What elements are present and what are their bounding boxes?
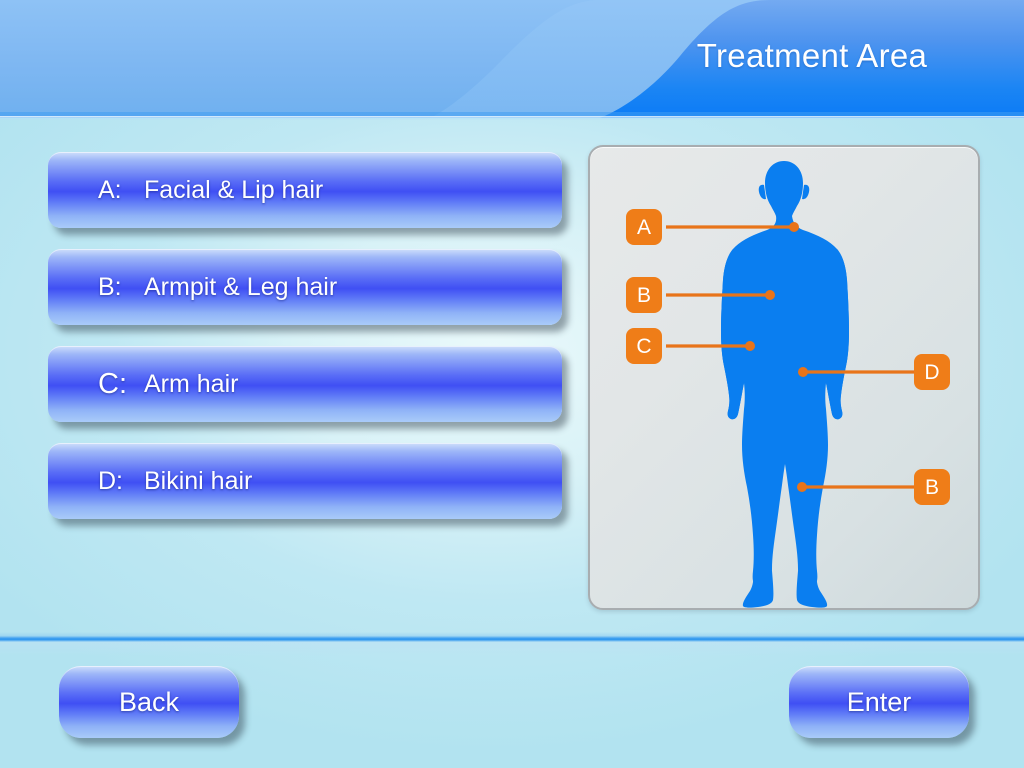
marker-badge-b-leg-label: B bbox=[925, 476, 939, 499]
option-button-b[interactable]: B: Armpit & Leg hair bbox=[48, 249, 562, 325]
marker-badge-b-armpit-label: B bbox=[637, 284, 651, 307]
back-button[interactable]: Back bbox=[59, 666, 239, 738]
marker-badge-d-label: D bbox=[924, 361, 939, 384]
option-label-c: Arm hair bbox=[144, 370, 238, 399]
app-screen: Treatment Area A: Facial & Lip hair B: A… bbox=[0, 0, 1024, 768]
marker-badge-d[interactable]: D bbox=[914, 354, 950, 390]
treatment-options-list: A: Facial & Lip hair B: Armpit & Leg hai… bbox=[48, 152, 562, 540]
header-underline bbox=[0, 116, 1024, 120]
marker-dot-a bbox=[789, 222, 799, 232]
enter-button[interactable]: Enter bbox=[789, 666, 969, 738]
marker-badge-b-leg[interactable]: B bbox=[914, 469, 950, 505]
header-bar: Treatment Area bbox=[0, 0, 1024, 120]
marker-badge-a[interactable]: A bbox=[626, 209, 662, 245]
option-key-c: C: bbox=[98, 368, 144, 401]
footer-divider bbox=[0, 632, 1024, 656]
option-label-a: Facial & Lip hair bbox=[144, 176, 323, 205]
marker-dot-b-leg bbox=[797, 482, 807, 492]
body-diagram: A B C D B bbox=[590, 147, 978, 608]
option-button-a[interactable]: A: Facial & Lip hair bbox=[48, 152, 562, 228]
marker-dot-d bbox=[798, 367, 808, 377]
marker-badge-c-label: C bbox=[636, 335, 651, 358]
option-key-d: D: bbox=[98, 467, 144, 496]
option-button-d[interactable]: D: Bikini hair bbox=[48, 443, 562, 519]
option-label-d: Bikini hair bbox=[144, 467, 252, 496]
marker-badge-b-armpit[interactable]: B bbox=[626, 277, 662, 313]
option-button-c[interactable]: C: Arm hair bbox=[48, 346, 562, 422]
option-key-b: B: bbox=[98, 273, 144, 302]
option-key-a: A: bbox=[98, 176, 144, 205]
marker-badge-c[interactable]: C bbox=[626, 328, 662, 364]
option-label-b: Armpit & Leg hair bbox=[144, 273, 337, 302]
page-title: Treatment Area bbox=[600, 0, 1024, 118]
body-diagram-panel: A B C D B bbox=[588, 145, 980, 610]
marker-dot-c bbox=[745, 341, 755, 351]
marker-badge-a-label: A bbox=[637, 216, 651, 239]
marker-dot-b-armpit bbox=[765, 290, 775, 300]
